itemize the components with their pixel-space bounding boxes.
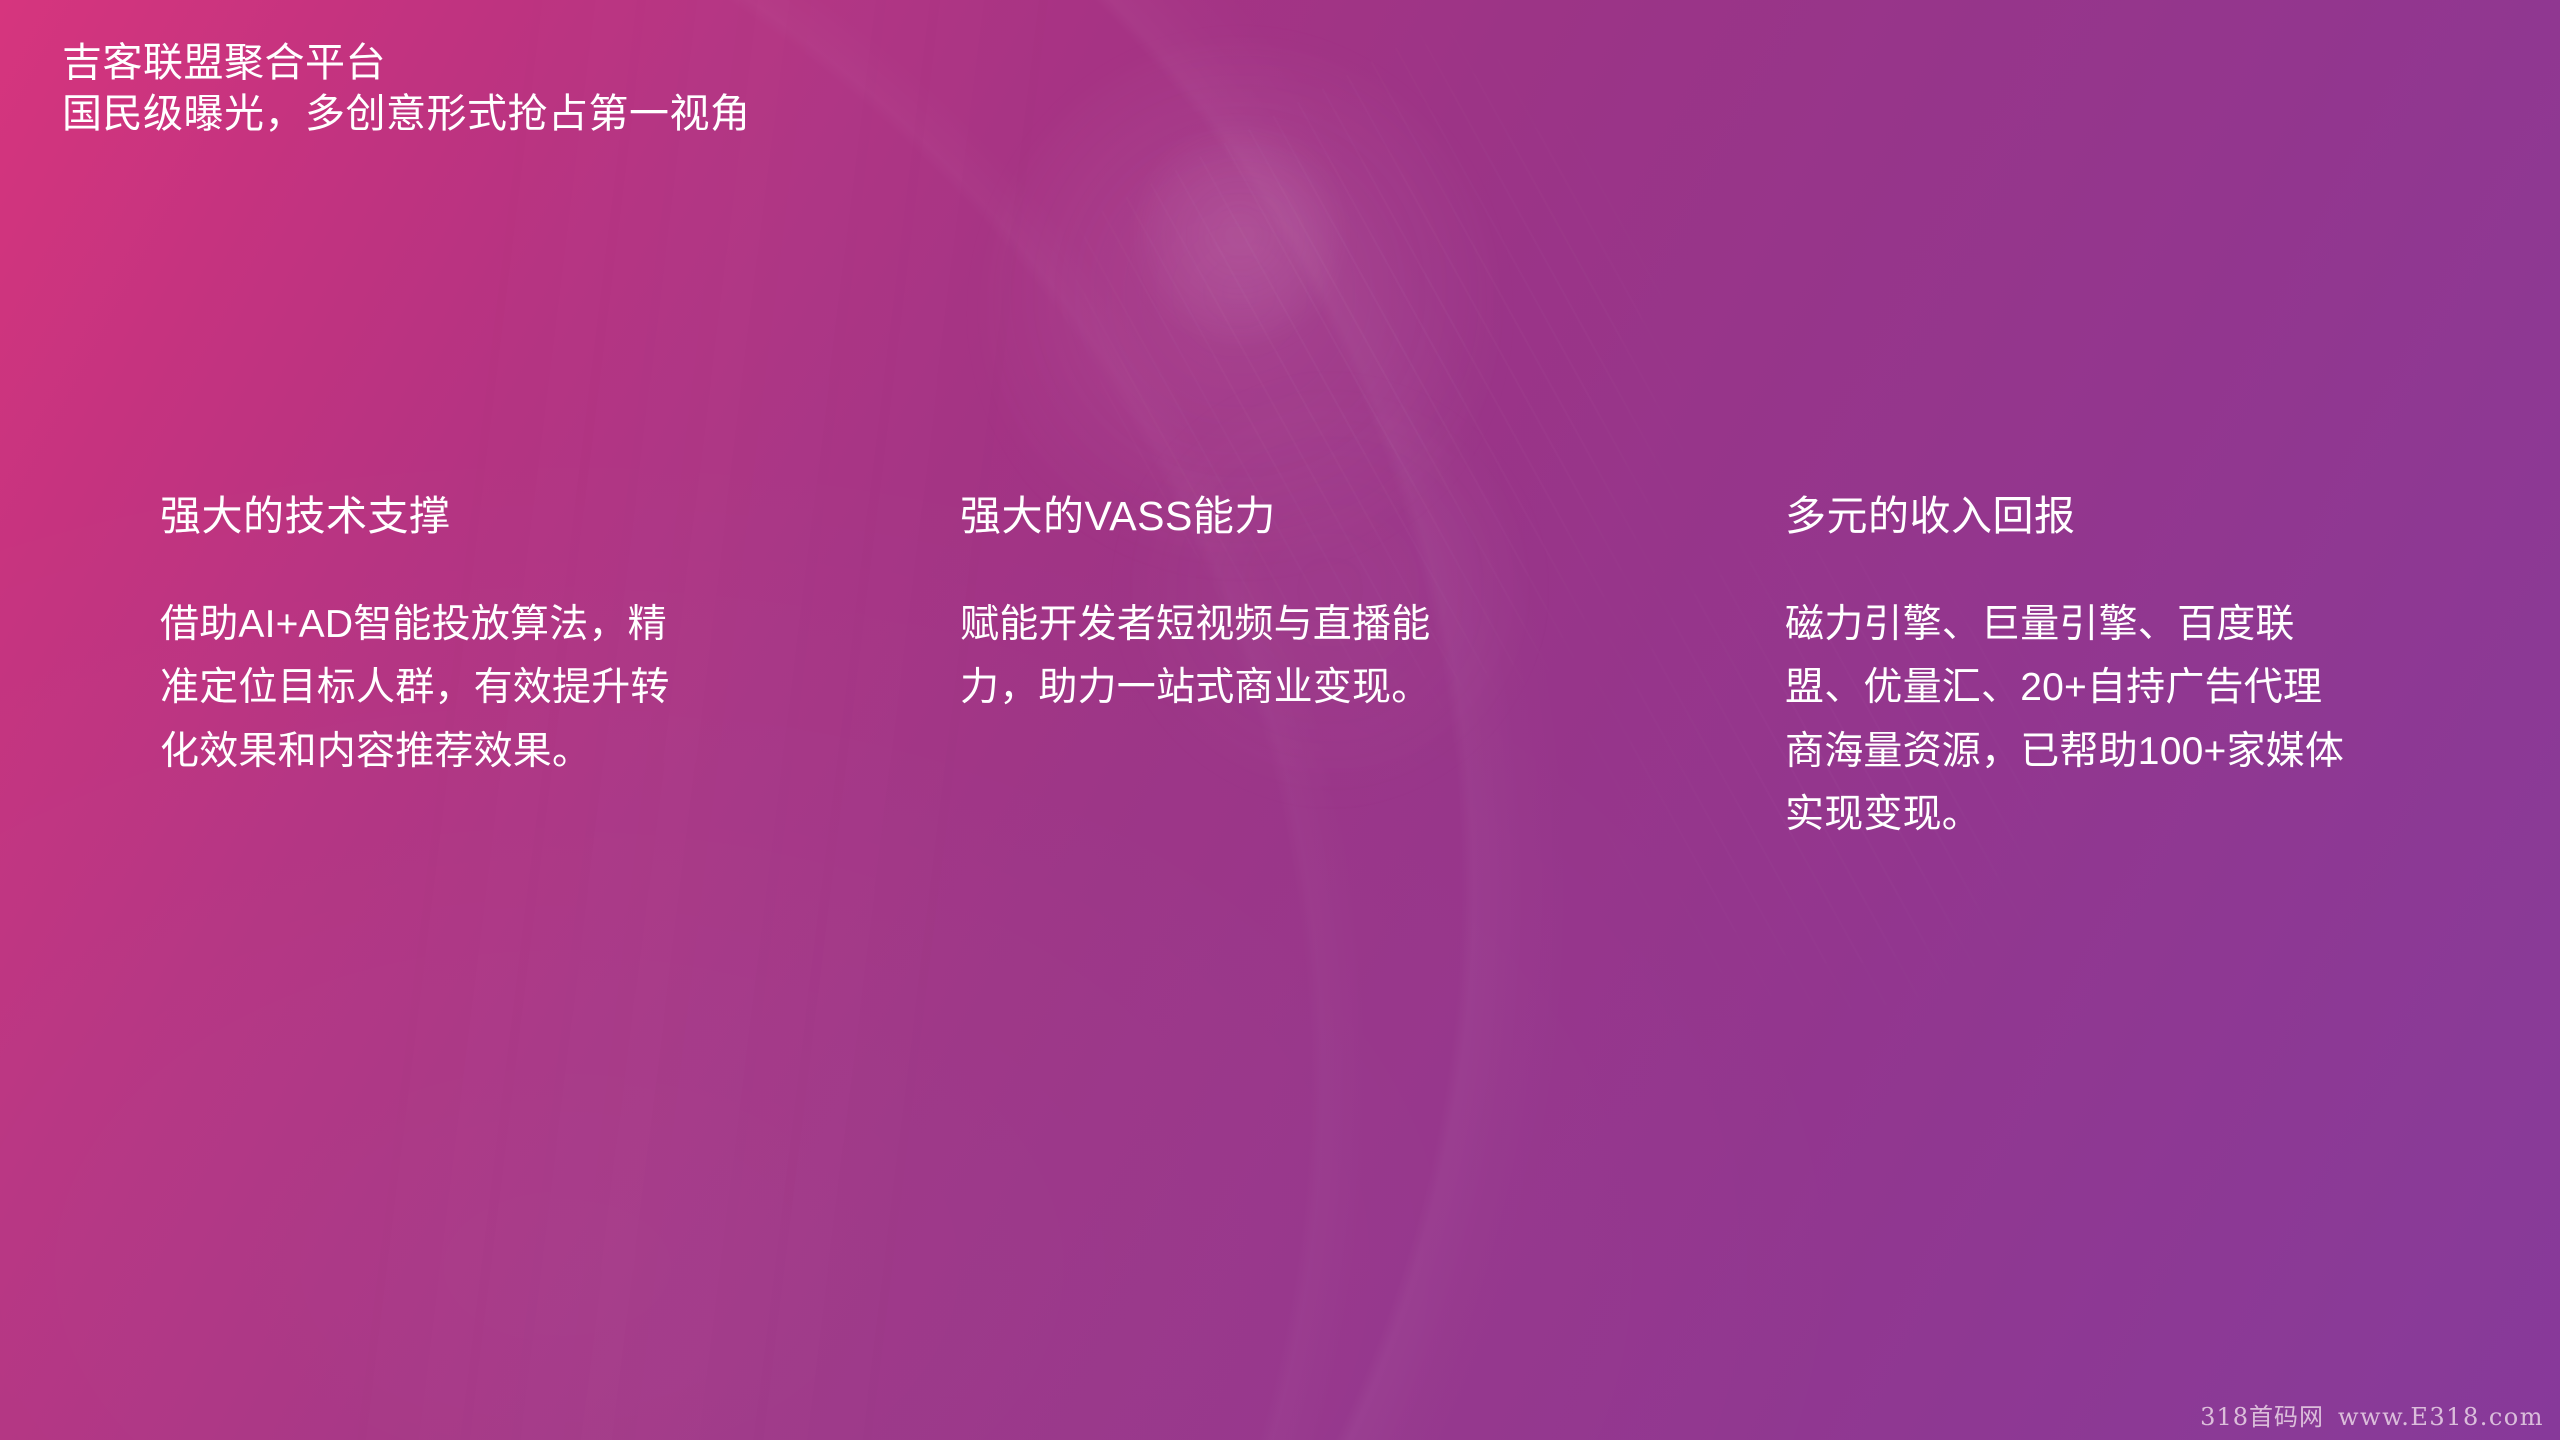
feature-body: 借助AI+AD智能投放算法，精准定位目标人群，有效提升转化效果和内容推荐效果。 xyxy=(160,593,700,783)
slide-canvas: 吉客联盟聚合平台 国民级曝光，多创意形式抢占第一视角 强大的技术支撑 借助AI+… xyxy=(0,0,2560,1440)
background-glow-small xyxy=(1135,120,1345,350)
feature-title: 强大的VASS能力 xyxy=(960,492,1500,541)
page-subtitle: 国民级曝光，多创意形式抢占第一视角 xyxy=(62,89,751,140)
slide-header: 吉客联盟聚合平台 国民级曝光，多创意形式抢占第一视角 xyxy=(62,38,751,140)
feature-body: 磁力引擎、巨量引擎、百度联盟、优量汇、20+自持广告代理商海量资源，已帮助100… xyxy=(1785,593,2345,846)
feature-title: 多元的收入回报 xyxy=(1785,492,2345,541)
feature-column-technology: 强大的技术支撑 借助AI+AD智能投放算法，精准定位目标人群，有效提升转化效果和… xyxy=(160,492,700,783)
feature-title: 强大的技术支撑 xyxy=(160,492,700,541)
watermark: 318首码网 www.E318.com xyxy=(2200,1397,2544,1432)
feature-column-vass: 强大的VASS能力 赋能开发者短视频与直播能力，助力一站式商业变现。 xyxy=(960,492,1500,720)
watermark-url: www.E318.com xyxy=(2338,1403,2544,1431)
watermark-site-name: 318首码网 xyxy=(2200,1397,2324,1432)
feature-body: 赋能开发者短视频与直播能力，助力一站式商业变现。 xyxy=(960,593,1500,719)
feature-column-revenue: 多元的收入回报 磁力引擎、巨量引擎、百度联盟、优量汇、20+自持广告代理商海量资… xyxy=(1785,492,2345,846)
page-title: 吉客联盟聚合平台 xyxy=(62,38,751,89)
